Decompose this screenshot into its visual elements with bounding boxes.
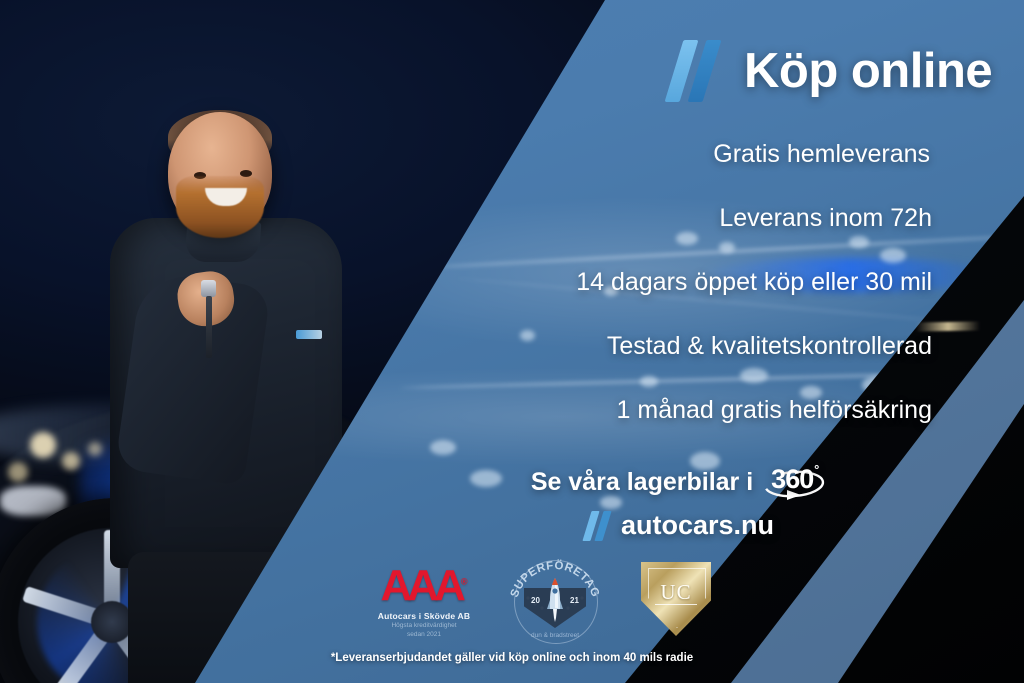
cta-block: Se våra lagerbilar i 360 ° autocars.nu <box>430 462 930 541</box>
benefit-item: 1 månad gratis helförsäkring <box>430 396 950 425</box>
360-badge-icon: 360 ° <box>763 462 829 502</box>
degree-symbol: ° <box>814 462 819 477</box>
double-slash-icon-small <box>586 511 614 541</box>
page-title: Köp online <box>744 43 992 99</box>
superforetag-badge: SUPERFÖRETAG 20 21 <box>500 558 610 644</box>
aaa-letters: AAA <box>381 561 461 610</box>
uc-certification-logo: UC <box>635 560 717 642</box>
benefit-item: Gratis hemleverans <box>430 140 948 169</box>
aaa-wordmark: AAA® <box>360 564 488 608</box>
aaa-credit-rating-logo: AAA® Autocars i Skövde AB Högsta kreditv… <box>360 564 488 640</box>
disclaimer-footnote: *Leveranserbjudandet gäller vid köp onli… <box>0 652 1024 664</box>
aaa-company-name: Autocars i Skövde AB <box>360 611 488 621</box>
uc-mark-text: UC <box>641 580 711 605</box>
cta-lead-line: Se våra lagerbilar i 360 ° <box>430 462 930 502</box>
double-slash-icon <box>672 40 728 102</box>
cta-lead-text: Se våra lagerbilar i <box>531 468 753 497</box>
website-url-text: autocars.nu <box>621 510 774 541</box>
rocket-icon <box>547 578 563 622</box>
benefit-item: 14 dagars öppet köp eller 30 mil <box>430 268 950 297</box>
badge-source: dun & bradstreet <box>510 632 600 639</box>
benefit-item: Testad & kvalitetskontrollerad <box>430 332 950 361</box>
badge-year-right: 21 <box>570 596 579 605</box>
banner-content: Köp online Gratis hemleverans Leverans i… <box>0 0 1024 683</box>
certification-logos: AAA® Autocars i Skövde AB Högsta kreditv… <box>350 556 770 646</box>
aaa-tagline: Högsta kreditvärdighetsedan 2021 <box>360 622 488 640</box>
badge-year-left: 20 <box>531 596 540 605</box>
headline-block: Köp online <box>672 40 992 102</box>
benefit-list: Gratis hemleverans Leverans inom 72h 14 … <box>430 140 950 460</box>
360-number: 360 <box>771 464 813 495</box>
website-link[interactable]: autocars.nu <box>430 510 930 541</box>
benefit-item: Leverans inom 72h <box>430 204 950 233</box>
uc-underline <box>655 604 697 605</box>
registered-trademark-icon: ® <box>461 576 468 586</box>
banner-root: Köp online Gratis hemleverans Leverans i… <box>0 0 1024 683</box>
